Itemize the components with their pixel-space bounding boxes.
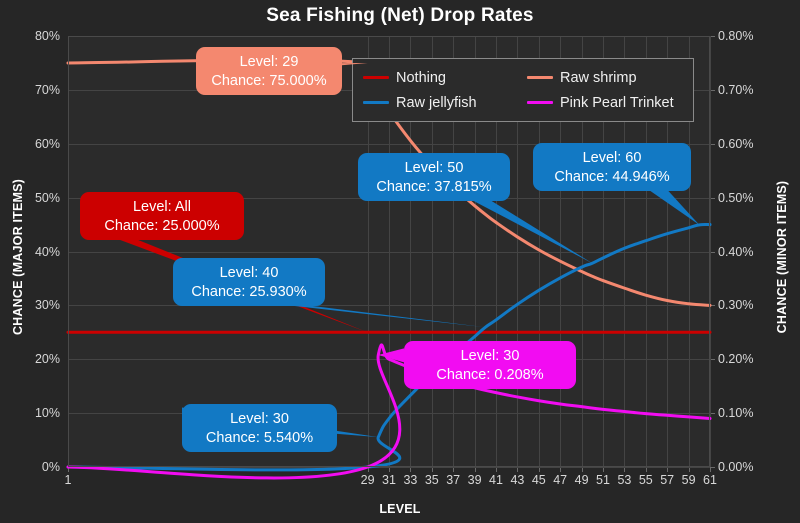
callout-level-label: Level: All <box>91 198 233 217</box>
callout-shrimp-29: Level: 29Chance: 75.000% <box>196 47 342 95</box>
callout-chance-label: Chance: 25.000% <box>91 217 233 236</box>
callout-chance-label: Chance: 5.540% <box>193 429 326 448</box>
callout-level-label: Level: 29 <box>207 53 331 72</box>
callout-jellyfish-60: Level: 60Chance: 44.946% <box>533 143 691 191</box>
callout-pointer-jellyfish-60 <box>650 191 699 225</box>
callout-pearl-30: Level: 30Chance: 0.208% <box>404 341 576 389</box>
callout-jellyfish-30: Level: 30Chance: 5.540% <box>182 404 337 452</box>
callout-chance-label: Chance: 25.930% <box>184 283 314 302</box>
callout-pointers <box>0 0 800 523</box>
chart-root: Sea Fishing (Net) Drop Rates CHANCE (MAJ… <box>0 0 800 523</box>
callout-chance-label: Chance: 44.946% <box>544 168 680 187</box>
callout-level-label: Level: 50 <box>369 159 499 178</box>
callout-level-label: Level: 60 <box>544 149 680 168</box>
callout-pointer-jellyfish-50 <box>474 201 593 263</box>
callout-level-label: Level: 30 <box>415 347 565 366</box>
callout-level-label: Level: 40 <box>184 264 314 283</box>
callout-jellyfish-40: Level: 40Chance: 25.930% <box>173 258 325 306</box>
callout-chance-label: Chance: 75.000% <box>207 72 331 91</box>
callout-nothing-all: Level: AllChance: 25.000% <box>80 192 244 240</box>
callout-pointer-jellyfish-40 <box>295 306 486 327</box>
callout-jellyfish-50: Level: 50Chance: 37.815% <box>358 153 510 201</box>
callout-level-label: Level: 30 <box>193 410 326 429</box>
callout-chance-label: Chance: 0.208% <box>415 366 565 385</box>
callout-chance-label: Chance: 37.815% <box>369 178 499 197</box>
callout-pointer-pearl-30 <box>378 348 404 362</box>
